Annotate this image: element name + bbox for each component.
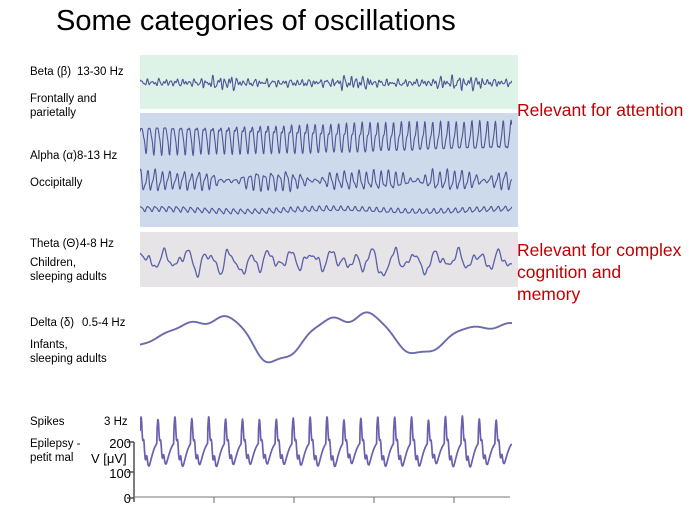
label-delta-location-line2: sleeping adults [30, 353, 107, 365]
axis-lines [97, 434, 145, 502]
annotation-complex-line2: cognition and [517, 261, 621, 283]
label-alpha-name: Alpha (α) [30, 149, 77, 163]
label-spikes-frequency: 3 Hz [104, 415, 128, 429]
label-delta-name: Delta (δ) [30, 316, 74, 330]
label-theta-location: Children,sleeping adults [30, 256, 107, 284]
label-spikes-location-line1: Epilepsy - [30, 438, 81, 450]
label-spikes-location: Epilepsy -petit mal [30, 437, 81, 465]
waveform-alpha-2-svg [140, 163, 512, 197]
annotation-complex-line1: Relevant for complex [517, 239, 681, 261]
label-theta-name: Theta (Θ) [30, 237, 79, 251]
waveform-delta-svg [140, 294, 512, 374]
waveform-alpha-3 [140, 198, 512, 220]
label-spikes-name: Spikes [30, 415, 65, 429]
waveform-beta-svg [140, 60, 512, 104]
annotation-complex-line3: memory [517, 283, 580, 305]
page-title: Some categories of oscillations [56, 4, 456, 38]
label-delta-frequency: 0.5-4 Hz [82, 316, 125, 330]
label-beta-location-line2: parietally [30, 107, 76, 119]
label-alpha-location-line1: Occipitally [30, 177, 82, 189]
annotation-attention: Relevant for attention [517, 99, 683, 121]
label-theta-location-line2: sleeping adults [30, 271, 107, 283]
label-spikes-location-line2: petit mal [30, 452, 73, 464]
waveform-spikes [140, 404, 512, 486]
waveform-theta-svg [140, 234, 512, 288]
label-beta-frequency: 13-30 Hz [77, 65, 124, 79]
label-beta-location: Frontally andparietally [30, 92, 96, 120]
label-beta-name: Beta (β) [30, 65, 71, 79]
label-theta-frequency: 4-8 Hz [80, 237, 114, 251]
slide-canvas: Some categories of oscillations Beta (β)… [0, 0, 697, 502]
label-delta-location-line1: Infants, [30, 339, 68, 351]
waveform-spikes-svg [140, 404, 512, 486]
waveform-alpha-1-svg [140, 117, 512, 159]
waveform-theta [140, 234, 512, 288]
label-theta-location-line1: Children, [30, 257, 76, 269]
label-alpha-location: Occipitally [30, 176, 82, 190]
label-alpha-frequency: 8-13 Hz [77, 149, 117, 163]
waveform-delta [140, 294, 512, 374]
waveform-alpha-2 [140, 163, 512, 197]
waveform-alpha-1 [140, 117, 512, 159]
label-beta-location-line1: Frontally and [30, 93, 96, 105]
waveform-beta [140, 60, 512, 104]
waveform-alpha-3-svg [140, 198, 512, 220]
label-delta-location: Infants,sleeping adults [30, 338, 107, 366]
